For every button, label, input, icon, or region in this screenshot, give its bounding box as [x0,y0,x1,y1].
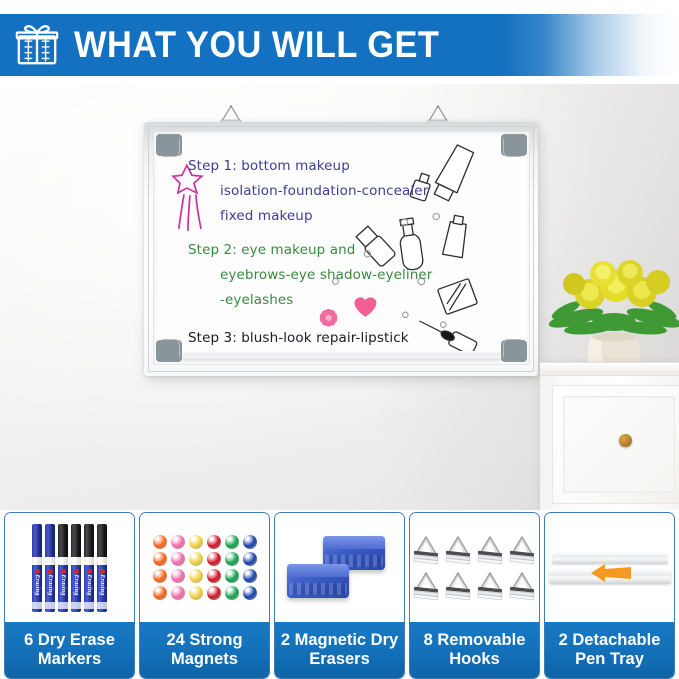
board-corner-bottom-left [156,340,182,362]
panel-label-hooks: 8 RemovableHooks [410,622,539,678]
magnet-item [243,552,257,566]
infographic-page: WHAT YOU WILL GET [0,0,679,679]
panel-label-line1: 8 Removable [424,631,526,650]
panel-removable-hooks[interactable]: 8 RemovableHooks [409,512,540,679]
magnet-item [243,535,257,549]
drawer-inset [563,396,675,493]
panel-label-line2: Pen Tray [559,650,661,669]
panel-label-line2: Magnets [166,650,242,669]
marker-item: Erasing [45,524,55,612]
magnet-item [207,586,221,600]
nightstand [540,362,679,510]
panel-label-pentray: 2 DetachablePen Tray [545,622,674,678]
note-line: Step 1: bottom makeup [188,158,350,174]
hook-item [413,571,440,601]
panel-strong-magnets[interactable]: 24 StrongMagnets [139,512,270,679]
note-line: Step 3: blush-look repair-lipstick [188,330,409,346]
magnet-item [207,535,221,549]
eraser-item [287,564,349,598]
note-line: isolation-foundation-concealer [220,183,428,199]
header-banner: WHAT YOU WILL GET [0,14,679,76]
hook-item [413,535,440,565]
product-panels-row: Erasing Erasing Erasing Erasing Erasing … [0,512,679,679]
marker-item: Erasing [58,524,68,612]
hook-item [509,571,536,601]
marker-item: Erasing [84,524,94,612]
note-line: -eyelashes [220,292,293,308]
whiteboard-notes: Step 1: bottom makeup isolation-foundati… [154,132,529,364]
note-line: Step 2: eye makeup and [188,242,355,258]
pentray-image [545,513,674,622]
magnet-item [225,552,239,566]
nightstand-top [540,363,679,376]
hook-item [509,535,536,565]
magnet-item [153,569,167,583]
panel-label-markers: 6 Dry EraseMarkers [5,622,134,678]
magnets-image [140,513,269,622]
magnet-item [153,552,167,566]
note-line: fixed makeup [220,208,313,224]
panel-detachable-pen-tray[interactable]: 2 DetachablePen Tray [544,512,675,679]
magnet-item [171,552,185,566]
nightstand-drawer [552,385,679,504]
magnet-item [225,569,239,583]
magnet-item [189,569,203,583]
panel-label-line1: 24 Strong [166,631,242,650]
header-title: WHAT YOU WILL GET [74,24,439,66]
panel-label-line1: 6 Dry Erase [24,631,115,650]
magnet-item [189,586,203,600]
magnet-item [189,535,203,549]
marker-item: Erasing [97,524,107,612]
pen-tray-art [549,538,671,598]
room-scene: Step 1: bottom makeup isolation-foundati… [0,84,679,510]
panel-label-line1: 2 Detachable [559,631,661,650]
board-corner-bottom-right [501,340,527,362]
magnet-item [207,569,221,583]
fern-foliage [547,298,679,337]
magnet-grid [153,535,257,600]
board-corner-top-left [156,134,182,156]
magnet-item [171,569,185,583]
magnet-item [207,552,221,566]
magnet-item [153,586,167,600]
hooks-image [410,513,539,622]
whiteboard-surface: Step 1: bottom makeup isolation-foundati… [153,131,530,365]
magnet-item [171,535,185,549]
panel-label-line2: Markers [24,650,115,669]
erasers-image [275,513,404,622]
whiteboard: Step 1: bottom makeup isolation-foundati… [144,122,538,376]
hook-item [445,535,472,565]
panel-label-line1: 2 Magnetic Dry [281,631,398,650]
hook-item [477,571,504,601]
magnet-item [189,552,203,566]
panel-label-magnets: 24 StrongMagnets [140,622,269,678]
markers-image: Erasing Erasing Erasing Erasing Erasing … [5,513,134,622]
direction-arrow-icon [589,562,633,584]
magnet-item [153,535,167,549]
panel-label-erasers: 2 Magnetic DryErasers [275,622,404,678]
magnet-item [225,586,239,600]
magnet-item [243,569,257,583]
gift-icon [14,22,60,68]
hooks-grid [413,535,536,601]
panel-label-line2: Erasers [281,650,398,669]
drawer-knob-icon[interactable] [619,434,632,447]
marker-item: Erasing [71,524,81,612]
magnet-item [225,535,239,549]
hook-item [445,571,472,601]
hook-item [477,535,504,565]
board-corner-top-right [501,134,527,156]
board-pen-tray [180,351,503,360]
panel-magnetic-dry-erasers[interactable]: 2 Magnetic DryErasers [274,512,405,679]
magnet-item [171,586,185,600]
panel-label-line2: Hooks [424,650,526,669]
panel-dry-erase-markers[interactable]: Erasing Erasing Erasing Erasing Erasing … [4,512,135,679]
note-line: eyebrows-eye shadow-eyeliner [220,267,432,283]
magnet-item [243,586,257,600]
marker-item: Erasing [32,524,42,612]
